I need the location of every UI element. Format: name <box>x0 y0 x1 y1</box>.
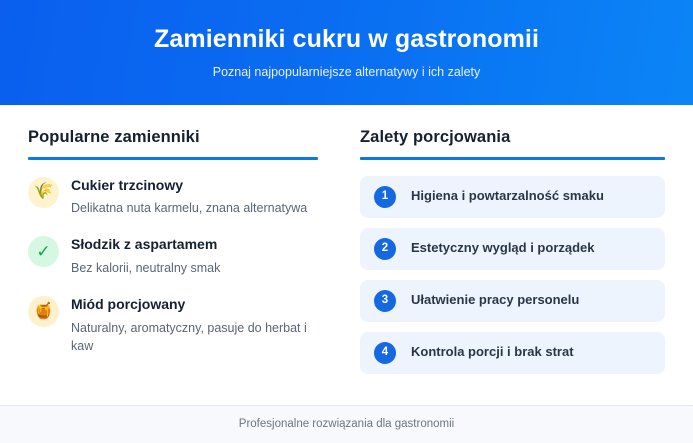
number-badge: 2 <box>374 238 396 260</box>
infographic-page: Zamienniki cukru w gastronomii Poznaj na… <box>0 0 693 443</box>
list-item-text: Cukier trzcinowy Delikatna nuta karmelu,… <box>71 176 318 218</box>
list-item[interactable]: 🍯 Miód porcjowany Naturalny, aromatyczny… <box>28 295 318 355</box>
page-title: Zamienniki cukru w gastronomii <box>154 25 539 54</box>
number-badge: 1 <box>374 186 396 208</box>
number-badge: 3 <box>374 290 396 312</box>
substitutes-divider <box>28 157 318 160</box>
footer-text: Profesjonalne rozwiązania dla gastronomi… <box>239 418 454 432</box>
page-subtitle: Poznaj najpopularniejsze alternatywy i i… <box>213 65 481 80</box>
benefit-label: Higiena i powtarzalność smaku <box>411 188 604 205</box>
benefits-heading: Zalety porcjowania <box>360 128 665 148</box>
page-header: Zamienniki cukru w gastronomii Poznaj na… <box>0 0 693 105</box>
list-item[interactable]: 2 Estetyczny wygląd i porządek <box>360 228 665 270</box>
list-item-title: Miód porcjowany <box>71 296 318 314</box>
check-icon: ✓ <box>28 236 59 267</box>
honey-pot-icon: 🍯 <box>28 296 59 327</box>
substitutes-heading: Popularne zamienniki <box>28 128 318 148</box>
number-badge: 4 <box>374 342 396 364</box>
wheat-icon: 🌾 <box>28 177 59 208</box>
list-item-title: Cukier trzcinowy <box>71 177 318 195</box>
list-item[interactable]: 3 Ułatwienie pracy personelu <box>360 280 665 322</box>
benefit-label: Kontrola porcji i brak strat <box>411 344 574 361</box>
list-item-description: Naturalny, aromatyczny, pasuje do herbat… <box>71 319 318 355</box>
list-item-title: Słodzik z aspartamem <box>71 236 318 254</box>
benefits-divider <box>360 157 665 160</box>
list-item-text: Słodzik z aspartamem Bez kalorii, neutra… <box>71 235 318 277</box>
content-area: Popularne zamienniki 🌾 Cukier trzcinowy … <box>0 105 693 405</box>
benefits-column: Zalety porcjowania 1 Higiena i powtarzal… <box>360 128 665 374</box>
list-item[interactable]: 🌾 Cukier trzcinowy Delikatna nuta karmel… <box>28 176 318 218</box>
list-item[interactable]: 1 Higiena i powtarzalność smaku <box>360 176 665 218</box>
benefits-list: 1 Higiena i powtarzalność smaku 2 Estety… <box>360 176 665 374</box>
list-item-description: Bez kalorii, neutralny smak <box>71 259 318 277</box>
list-item[interactable]: 4 Kontrola porcji i brak strat <box>360 332 665 374</box>
substitutes-list: 🌾 Cukier trzcinowy Delikatna nuta karmel… <box>28 176 318 355</box>
list-item-description: Delikatna nuta karmelu, znana alternatyw… <box>71 199 318 217</box>
benefit-label: Estetyczny wygląd i porządek <box>411 240 595 257</box>
list-item-text: Miód porcjowany Naturalny, aromatyczny, … <box>71 295 318 355</box>
substitutes-column: Popularne zamienniki 🌾 Cukier trzcinowy … <box>28 128 318 355</box>
benefit-label: Ułatwienie pracy personelu <box>411 292 579 309</box>
page-footer: Profesjonalne rozwiązania dla gastronomi… <box>0 405 693 443</box>
list-item[interactable]: ✓ Słodzik z aspartamem Bez kalorii, neut… <box>28 235 318 277</box>
